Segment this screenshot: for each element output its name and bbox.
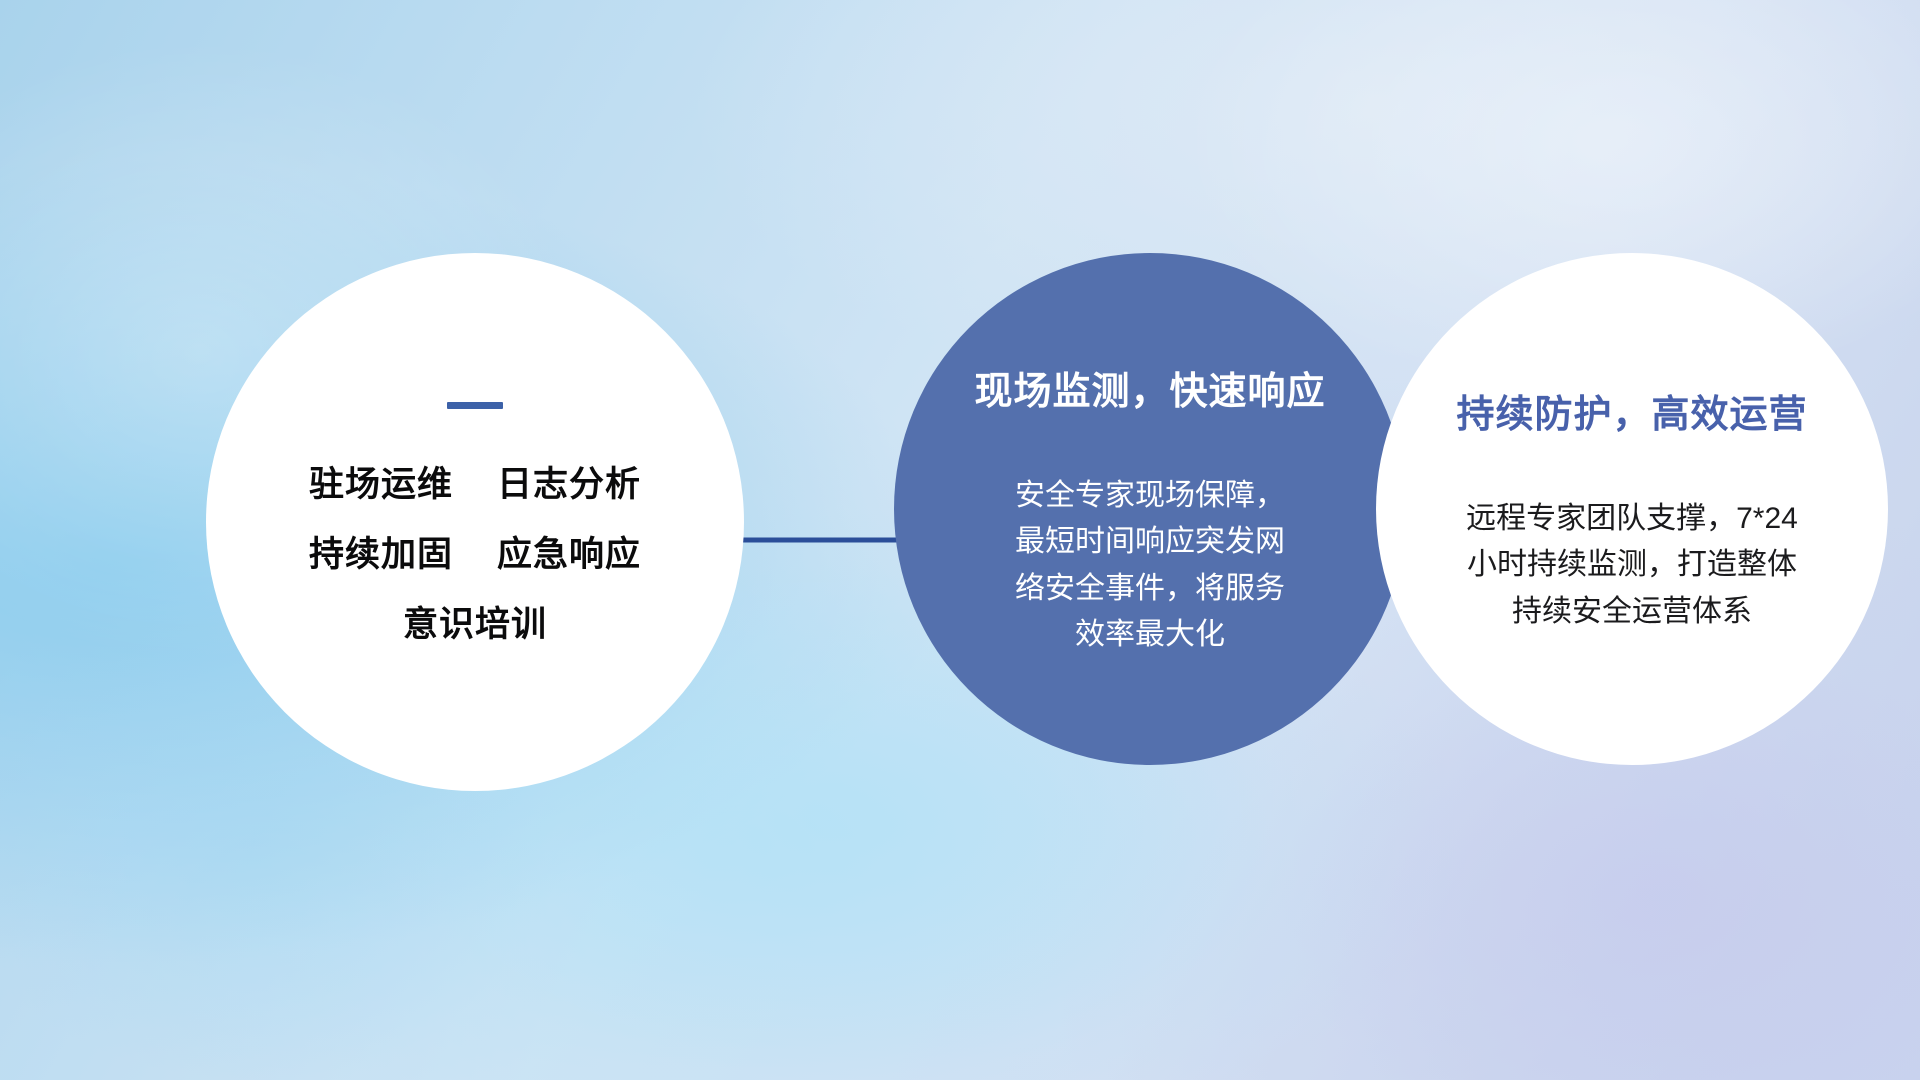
body-line: 效率最大化 [1015, 612, 1285, 659]
onsite-monitoring-circle[interactable]: 现场监测，快速响应 安全专家现场保障， 最短时间响应突发网 络安全事件，将服务 … [894, 253, 1406, 765]
keyword-item[interactable]: 意识培训 [403, 607, 547, 642]
circle-title: 持续防护，高效运营 [1456, 383, 1807, 438]
service-keywords-circle[interactable]: 驻场运维 日志分析 持续加固 应急响应 意识培训 [206, 253, 744, 791]
body-line: 最短时间响应突发网 [1015, 519, 1285, 566]
body-line: 络安全事件，将服务 [1015, 566, 1285, 613]
keyword-row: 驻场运维 日志分析 [309, 467, 641, 502]
keyword-item[interactable]: 应急响应 [497, 537, 641, 572]
keyword-item[interactable]: 驻场运维 [309, 467, 453, 502]
body-line: 持续安全运营体系 [1466, 589, 1798, 636]
body-line: 远程专家团队支撑，7*24 [1466, 496, 1798, 543]
continuous-protection-circle[interactable]: 持续防护，高效运营 远程专家团队支撑，7*24 小时持续监测，打造整体 持续安全… [1376, 253, 1888, 765]
slide-canvas: 驻场运维 日志分析 持续加固 应急响应 意识培训 现场监测，快速响应 安全专家现… [0, 0, 1920, 1080]
keyword-item[interactable]: 日志分析 [497, 467, 641, 502]
body-line: 小时持续监测，打造整体 [1466, 542, 1798, 589]
circle-title: 现场监测，快速响应 [974, 360, 1325, 415]
circle-body-text: 远程专家团队支撑，7*24 小时持续监测，打造整体 持续安全运营体系 [1466, 496, 1798, 636]
keyword-row: 意识培训 [403, 607, 547, 642]
title-divider-dash [447, 402, 503, 409]
keyword-row: 持续加固 应急响应 [309, 537, 641, 572]
keyword-item[interactable]: 持续加固 [309, 537, 453, 572]
body-line: 安全专家现场保障， [1015, 473, 1285, 520]
circle-body-text: 安全专家现场保障， 最短时间响应突发网 络安全事件，将服务 效率最大化 [1015, 473, 1285, 659]
